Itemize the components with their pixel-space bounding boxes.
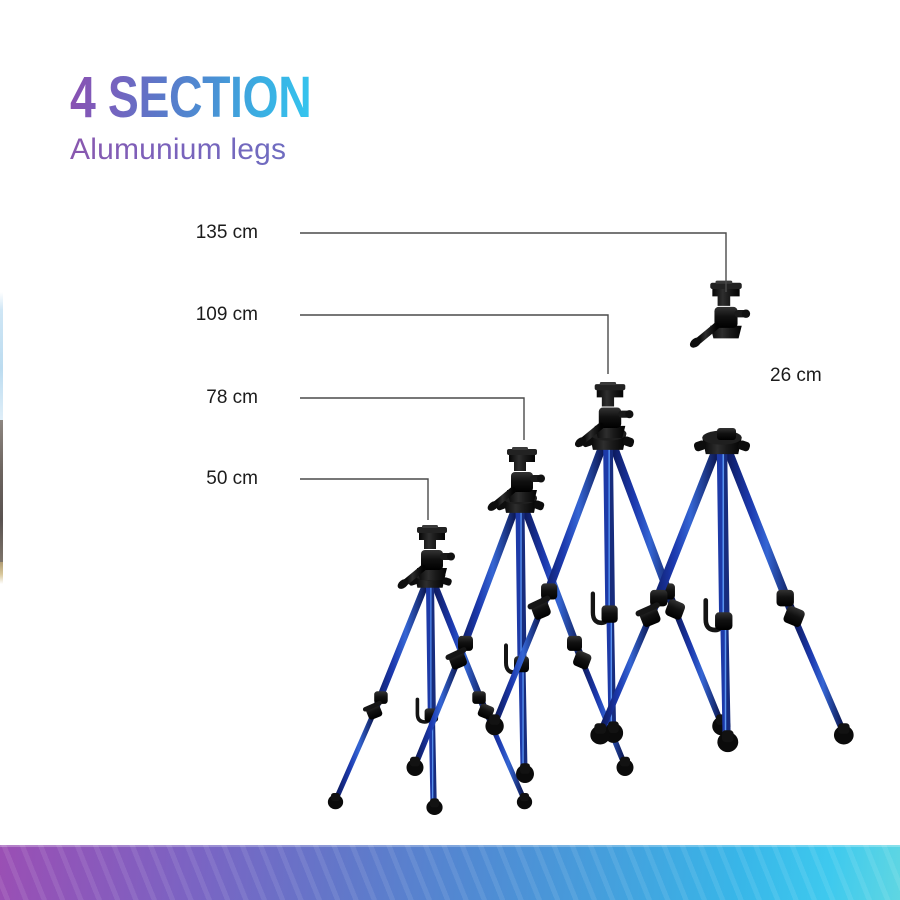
callout-label-135: 135 cm — [58, 222, 258, 244]
callout-label-78: 78 cm — [58, 387, 258, 409]
callout-label-column-26: 26 cm — [770, 365, 822, 387]
footer-diagonal-stripes — [0, 845, 900, 900]
callout-label-50: 50 cm — [58, 468, 258, 490]
infographic-canvas: 4 SECTION Alumunium legs 135 cm 109 cm 7… — [0, 0, 900, 900]
leader-line-135 — [300, 233, 726, 292]
footer-gradient-band — [0, 845, 900, 900]
page-subtitle: Alumunium legs — [70, 133, 372, 167]
headline-block: 4 SECTION Alumunium legs — [70, 70, 372, 167]
leader-line-109 — [300, 315, 608, 374]
leader-line-50 — [300, 479, 428, 520]
callout-label-109: 109 cm — [58, 304, 258, 326]
leader-line-78 — [300, 398, 524, 440]
page-title: 4 SECTION — [70, 70, 311, 125]
